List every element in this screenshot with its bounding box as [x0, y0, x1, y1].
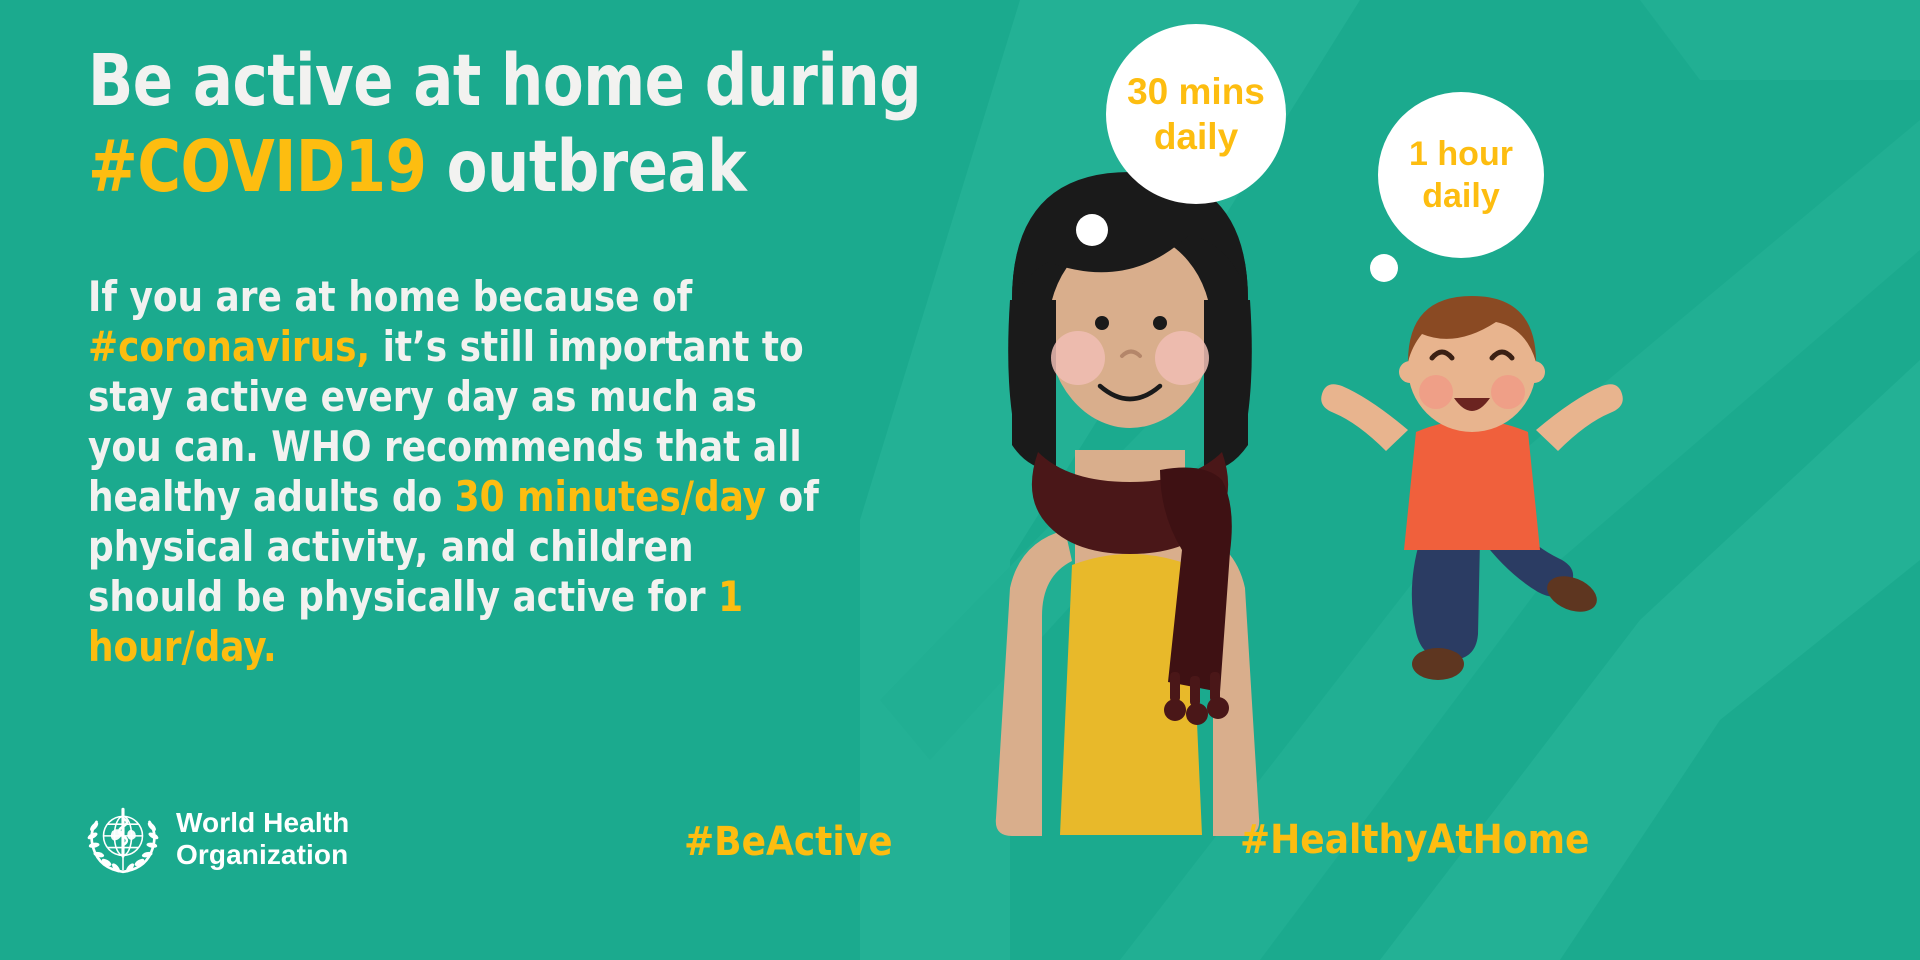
who-logo: World Health Organization: [84, 800, 349, 878]
who-wordmark-line1: World Health: [176, 807, 349, 839]
body-seg-1: If you are at home because of: [88, 272, 692, 321]
who-emblem-icon: [84, 800, 162, 878]
who-wordmark: World Health Organization: [176, 807, 349, 871]
body-paragraph: If you are at home because of #coronavir…: [88, 272, 829, 672]
woman-figure: [996, 172, 1259, 836]
hashtag-beactive: #BeActive: [684, 820, 893, 864]
hashtag-healthyathome: #HealthyAtHome: [1240, 818, 1589, 862]
page-title: Be active at home during #COVID19 outbre…: [88, 38, 921, 210]
bubble-child-line1: 1 hour: [1409, 133, 1513, 175]
who-wordmark-line2: Organization: [176, 839, 349, 871]
headline-hashtag-covid19: #COVID19: [88, 125, 426, 208]
bubble-child-line2: daily: [1409, 175, 1513, 217]
bubble-adult-line1: 30 mins: [1127, 69, 1265, 114]
thought-bubble-adult: 30 mins daily: [1106, 24, 1286, 204]
boy-figure: [1321, 296, 1623, 680]
body-30-minutes-per-day: 30 minutes/day: [455, 472, 766, 521]
headline-outbreak: outbreak: [426, 125, 746, 208]
text-column: Be active at home during #COVID19 outbre…: [0, 0, 1000, 960]
thought-bubble-dot-adult: [1076, 214, 1108, 246]
thought-bubble-dot-child: [1370, 254, 1398, 282]
headline-line-2: #COVID19 outbreak: [88, 124, 921, 210]
headline-line-1: Be active at home during: [88, 38, 921, 124]
body-hashtag-coronavirus: #coronavirus,: [88, 322, 370, 371]
bubble-adult-line2: daily: [1127, 114, 1265, 159]
thought-bubble-child: 1 hour daily: [1378, 92, 1544, 258]
